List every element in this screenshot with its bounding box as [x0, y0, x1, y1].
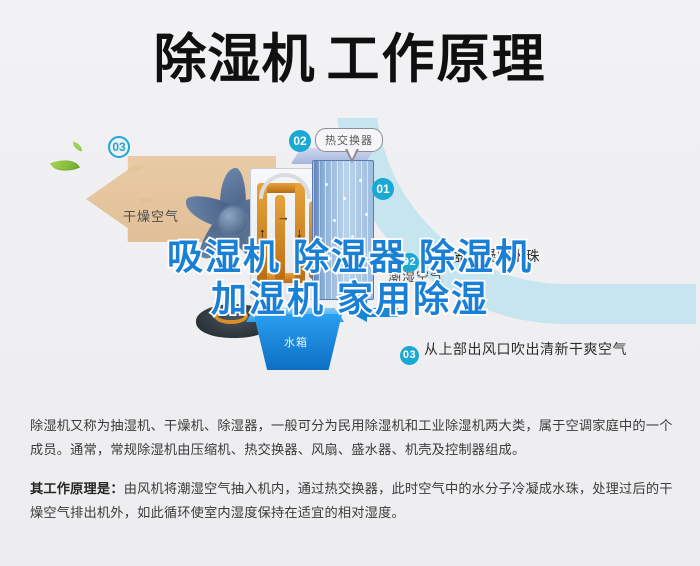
- annotation-badge-02: 02: [400, 253, 419, 272]
- paragraph-2-lead: 其工作原理是：: [30, 481, 124, 496]
- copper-pipe: [275, 195, 285, 281]
- title-part-working-principle: 工作原理: [327, 33, 547, 86]
- annotation-step-03: 03从上部出风口吹出清新干爽空气: [400, 339, 627, 361]
- infographic-page: 除湿机 工作原理 潮湿空气 干燥空气: [0, 0, 700, 566]
- annotation-text-03: 从上部出风口吹出清新干爽空气: [424, 341, 627, 357]
- paragraph-2: 其工作原理是：由风机将潮湿空气抽入机内，通过热交换器，此时空气中的水分子冷凝成水…: [30, 477, 675, 526]
- body-copy: 除湿机又称为抽湿机、干燥机、除湿器，一般可分为民用除湿机和工业除湿机两大类，属于…: [30, 414, 675, 540]
- leaf-icon: [71, 141, 84, 151]
- annotation-step-02: 02蒸发器冷凝成水珠: [400, 246, 540, 268]
- water-tank-label: 水箱: [284, 334, 308, 350]
- title-part-dehumidifier: 除湿机: [154, 33, 316, 86]
- paragraph-1: 除湿机又称为抽湿机、干燥机、除湿器，一般可分为民用除湿机和工业除湿机两大类，属于…: [30, 414, 675, 463]
- leaf-icon: [50, 154, 80, 178]
- step-badge-02: 02: [289, 130, 311, 152]
- step-badge-03: 03: [108, 136, 130, 158]
- flow-arrow-down-icon: ↓: [296, 225, 303, 240]
- callout-pointer-icon: [345, 149, 359, 163]
- illustration-stage: 潮湿空气 干燥空气 ↑ → ↓: [0, 118, 700, 403]
- fan-hub: [217, 205, 249, 237]
- dehumidifier-machine: ↑ → ↓: [250, 146, 380, 321]
- paragraph-2-rest: 由风机将潮湿空气抽入机内，通过热交换器，此时空气中的水分子冷凝成水珠，处理过后的…: [30, 481, 673, 520]
- dry-air-label: 干燥空气: [123, 206, 179, 225]
- humid-air-arrow: [336, 118, 696, 324]
- page-title: 除湿机 工作原理: [154, 33, 547, 86]
- condensation-droplets: [313, 161, 373, 299]
- annotation-text-02: 蒸发器冷凝成水珠: [424, 248, 540, 264]
- flow-arrow-up-icon: ↑: [259, 225, 266, 240]
- header: 除湿机 工作原理: [0, 0, 700, 118]
- step-badge-01: 01: [372, 178, 394, 200]
- annotation-badge-03: 03: [400, 346, 419, 365]
- heat-exchanger: [312, 160, 374, 300]
- refrigerant-pipe: [259, 173, 311, 199]
- base-copper-ring: [214, 308, 248, 324]
- flow-arrow-right-icon: →: [277, 209, 290, 224]
